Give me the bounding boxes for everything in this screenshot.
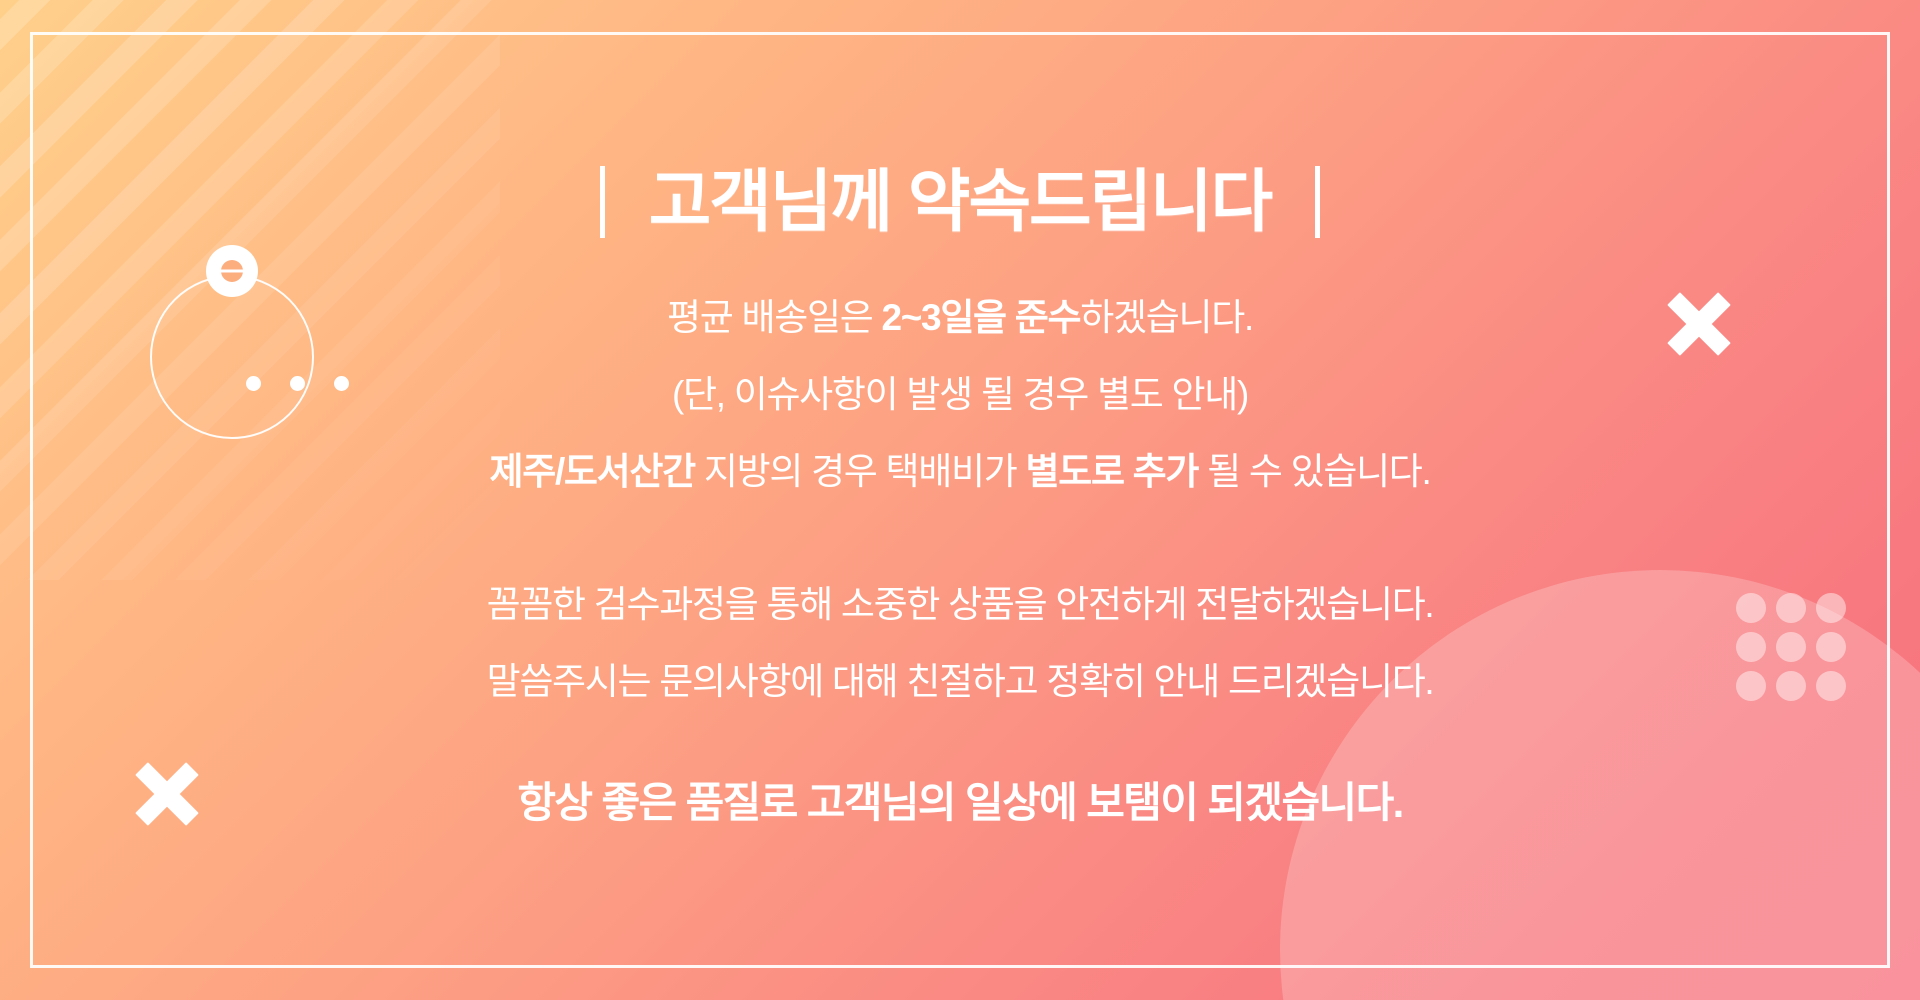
- emphasis-text: 별도로 추가: [1025, 451, 1198, 492]
- normal-text: (단, 이슈사항이 발생 될 경우 별도 안내): [672, 374, 1248, 415]
- emphasis-text: 2~3일을 준수: [881, 297, 1080, 338]
- promise-line-issue-note: (단, 이슈사항이 발생 될 경우 별도 안내): [0, 376, 1920, 413]
- promise-line-inspection: 꼼꼼한 검수과정을 통해 소중한 상품을 안전하게 전달하겠습니다.: [0, 586, 1920, 623]
- normal-text: 꼼꼼한 검수과정을 통해 소중한 상품을 안전하게 전달하겠습니다.: [487, 584, 1434, 625]
- title-divider-right-icon: [1315, 166, 1320, 238]
- promise-banner: 고객님께 약속드립니다 평균 배송일은 2~3일을 준수하겠습니다. (단, 이…: [0, 0, 1920, 1000]
- banner-title-row: 고객님께 약속드립니다: [0, 122, 1920, 281]
- promise-text-block: 평균 배송일은 2~3일을 준수하겠습니다. (단, 이슈사항이 발생 될 경우…: [0, 262, 1920, 866]
- promise-line-inquiry: 말씀주시는 문의사항에 대해 친절하고 정확히 안내 드리겠습니다.: [0, 663, 1920, 700]
- normal-text: 말씀주시는 문의사항에 대해 친절하고 정확히 안내 드리겠습니다.: [487, 661, 1434, 702]
- promise-closing-line: 항상 좋은 품질로 고객님의 일상에 보탬이 되겠습니다.: [0, 782, 1920, 824]
- emphasis-text: 제주/도서산간: [489, 451, 694, 492]
- title-divider-left-icon: [600, 166, 605, 238]
- normal-text: 평균 배송일은: [667, 297, 881, 338]
- page-title: 고객님께 약속드립니다: [649, 168, 1272, 236]
- normal-text: 될 수 있습니다.: [1198, 451, 1430, 492]
- promise-line-delivery-days: 평균 배송일은 2~3일을 준수하겠습니다.: [0, 299, 1920, 336]
- promise-line-shipping-surcharge: 제주/도서산간 지방의 경우 택배비가 별도로 추가 될 수 있습니다.: [0, 453, 1920, 490]
- normal-text: 지방의 경우 택배비가: [695, 451, 1026, 492]
- normal-text: 하겠습니다.: [1080, 297, 1253, 338]
